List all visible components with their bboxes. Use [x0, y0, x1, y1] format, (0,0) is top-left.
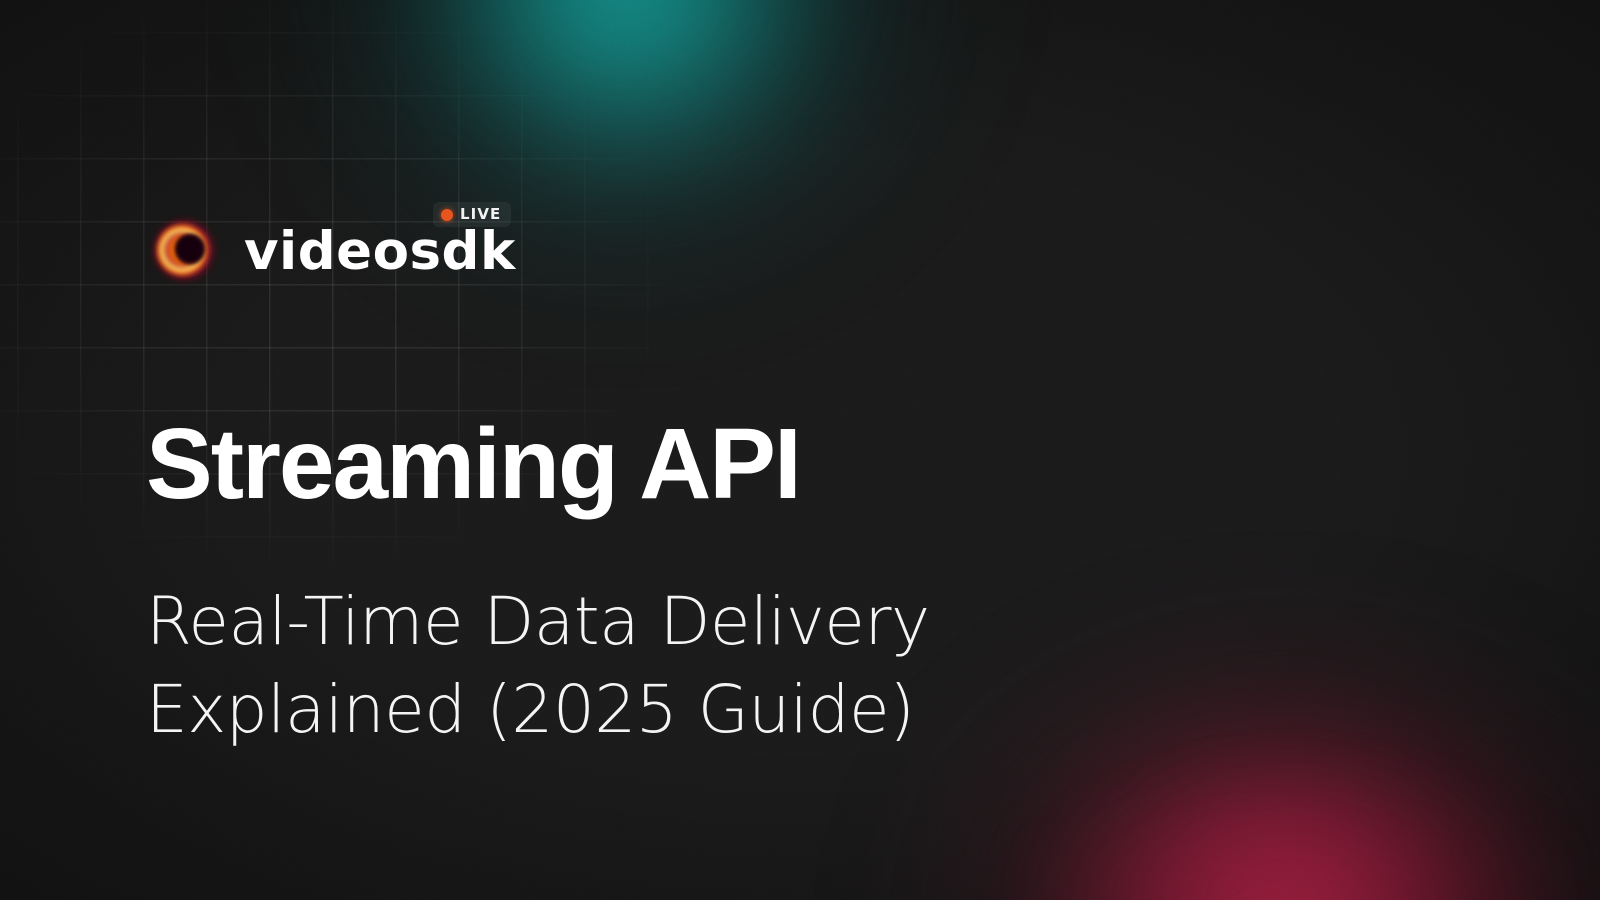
page-subtitle: Real-Time Data Delivery Explained (2025 …: [146, 578, 930, 754]
card-content: videosdk LIVE Streaming API Real-Time Da…: [0, 0, 1600, 900]
eclipse-logo-icon: [146, 212, 222, 288]
social-card: videosdk LIVE Streaming API Real-Time Da…: [0, 0, 1600, 900]
live-dot-icon: [441, 209, 453, 221]
page-title: Streaming API: [146, 412, 800, 517]
brand-wordmark: videosdk: [244, 225, 516, 278]
status-badge: LIVE: [433, 202, 511, 227]
live-badge-label: LIVE: [460, 207, 501, 222]
